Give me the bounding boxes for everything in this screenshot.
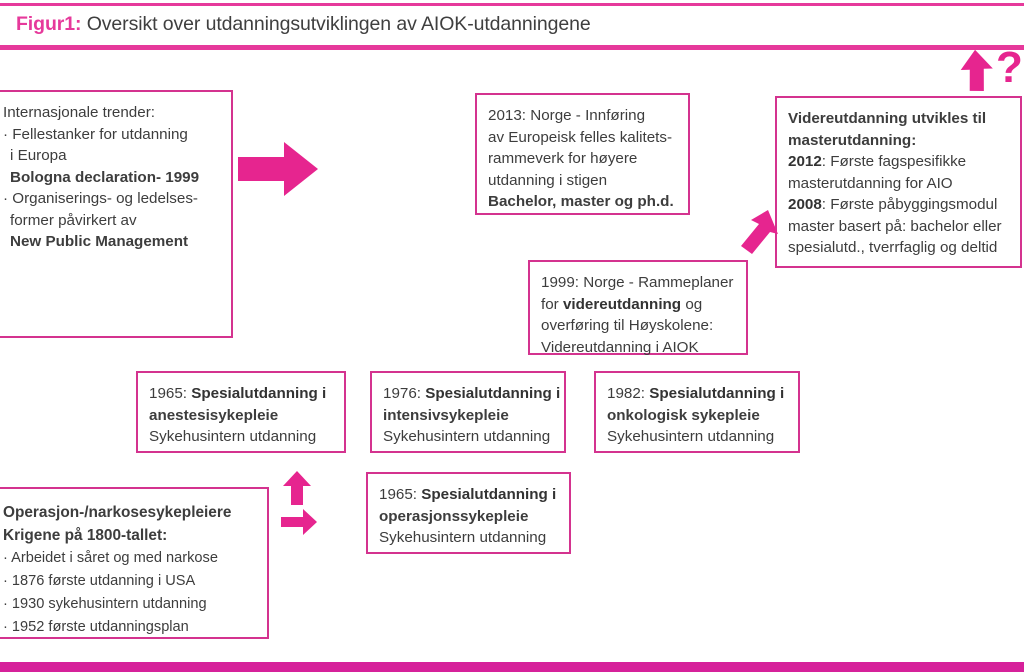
box-line: · Organiserings- og ledelses- xyxy=(3,188,220,210)
box-line-title: 1982: Spesialutdanning i xyxy=(607,383,787,405)
figure-title-text: Oversikt over utdanningsutviklingen av A… xyxy=(81,13,590,35)
history-header-line2: Krigene på 1800-tallet: xyxy=(3,524,256,547)
title-line2: intensivsykepleie xyxy=(383,405,553,427)
box-operasjon-narkosesykepleiere: Operasjon-/narkosesykepleiere Krigene på… xyxy=(0,487,269,639)
box-videreutdanning-masterutdanning: Videreutdanning utvikles til masterutdan… xyxy=(775,96,1022,268)
box-line-2008: 2008: Første påbyggingsmodul xyxy=(788,194,1009,216)
year-label: 1982: xyxy=(607,385,649,402)
arrow-right-icon xyxy=(281,509,317,535)
year-2012: 2012 xyxy=(788,153,822,170)
arrow-up-right-icon xyxy=(738,208,780,256)
title-line1: Spesialutdanning i xyxy=(421,486,556,503)
box-line-title: 1965: Spesialutdanning i xyxy=(379,484,558,506)
box-line: 2013: Norge - Innføring xyxy=(488,105,677,127)
year-2008: 2008 xyxy=(788,196,822,213)
history-bullet: · Arbeidet i såret og med narkose xyxy=(3,547,256,570)
year-2012-text: : Første fagspesifikke xyxy=(822,153,966,170)
box-line: spesialutd., tverrfaglig og deltid xyxy=(788,237,1009,259)
arrow-right-icon xyxy=(238,140,318,198)
question-mark: ? xyxy=(996,46,1023,90)
subtitle: Sykehusintern utdanning xyxy=(607,426,787,448)
year-2008-text: : Første påbyggingsmodul xyxy=(822,196,998,213)
box-1999-rammeplaner: 1999: Norge - Rammeplaner for videreutda… xyxy=(528,260,748,355)
title-line1: Spesialutdanning i xyxy=(191,385,326,402)
subtitle: Sykehusintern utdanning xyxy=(379,527,558,549)
arrow-up-icon xyxy=(957,50,993,92)
box-line-title: 1976: Spesialutdanning i xyxy=(383,383,553,405)
box-line: rammeverk for høyere xyxy=(488,148,677,170)
box-1965-anestesisykepleie: 1965: Spesialutdanning i anestesisykeple… xyxy=(136,371,346,453)
box-line: overføring til Høyskolene: xyxy=(541,315,735,337)
year-label: 1965: xyxy=(379,486,421,503)
box-1965-operasjonssykepleie: 1965: Spesialutdanning i operasjonssykep… xyxy=(366,472,571,554)
box-line-videreutdanning: for videreutdanning og xyxy=(541,294,735,316)
page-title: Figur1: Oversikt over utdanningsutviklin… xyxy=(16,10,591,38)
box-line-title: 1965: Spesialutdanning i xyxy=(149,383,333,405)
box-internasjonale-trender: Internasjonale trender: · Fellestanker f… xyxy=(0,90,233,338)
title-line1: Spesialutdanning i xyxy=(425,385,560,402)
history-bullet: · 1876 første utdanning i USA xyxy=(3,570,256,593)
header-rule-top xyxy=(0,3,1024,6)
box-1976-intensivsykepleie: 1976: Spesialutdanning i intensivsykeple… xyxy=(370,371,566,453)
text-videreutdanning: videreutdanning xyxy=(563,296,681,313)
year-label: 1976: xyxy=(383,385,425,402)
box-1982-onkologisk-sykepleie: 1982: Spesialutdanning i onkologisk syke… xyxy=(594,371,800,453)
box-line: Videreutdanning i AIOK xyxy=(541,337,735,359)
text-og: og xyxy=(681,296,702,313)
box-line-npm: New Public Management xyxy=(3,231,220,253)
history-bullet: · 1952 første utdanningsplan xyxy=(3,616,256,639)
box-line-2012: 2012: Første fagspesifikke xyxy=(788,151,1009,173)
box-line-bologna: Bologna declaration- 1999 xyxy=(3,167,220,189)
history-header-line1: Operasjon-/narkosesykepleiere xyxy=(3,501,256,524)
year-label: 1965: xyxy=(149,385,191,402)
header-rule-bottom xyxy=(0,45,1024,50)
box-2013-europeisk-rammeverk: 2013: Norge - Innføring av Europeisk fel… xyxy=(475,93,690,215)
subtitle: Sykehusintern utdanning xyxy=(383,426,553,448)
box-line: · Fellestanker for utdanning xyxy=(3,124,220,146)
arrow-up-icon xyxy=(283,471,311,505)
box-line: i Europa xyxy=(3,145,220,167)
box-line: masterutdanning: xyxy=(788,130,1009,152)
box-line: av Europeisk felles kalitets- xyxy=(488,127,677,149)
title-line2: operasjonssykepleie xyxy=(379,506,558,528)
box-line-bachelor-master-phd: Bachelor, master og ph.d. xyxy=(488,191,677,213)
box-line: Internasjonale trender: xyxy=(3,102,220,124)
box-line: former påvirkert av xyxy=(3,210,220,232)
box-line: master basert på: bachelor eller xyxy=(788,216,1009,238)
box-line: masterutdanning for AIO xyxy=(788,173,1009,195)
footer-bar xyxy=(0,662,1024,672)
title-line1: Spesialutdanning i xyxy=(649,385,784,402)
box-line: Videreutdanning utvikles til xyxy=(788,108,1009,130)
box-line: utdanning i stigen xyxy=(488,170,677,192)
title-line2: anestesisykepleie xyxy=(149,405,333,427)
subtitle: Sykehusintern utdanning xyxy=(149,426,333,448)
text-for: for xyxy=(541,296,563,313)
box-line: 1999: Norge - Rammeplaner xyxy=(541,272,735,294)
title-line2: onkologisk sykepleie xyxy=(607,405,787,427)
figure-label: Figur1: xyxy=(16,13,81,35)
history-bullet: · 1930 sykehusintern utdanning xyxy=(3,593,256,616)
